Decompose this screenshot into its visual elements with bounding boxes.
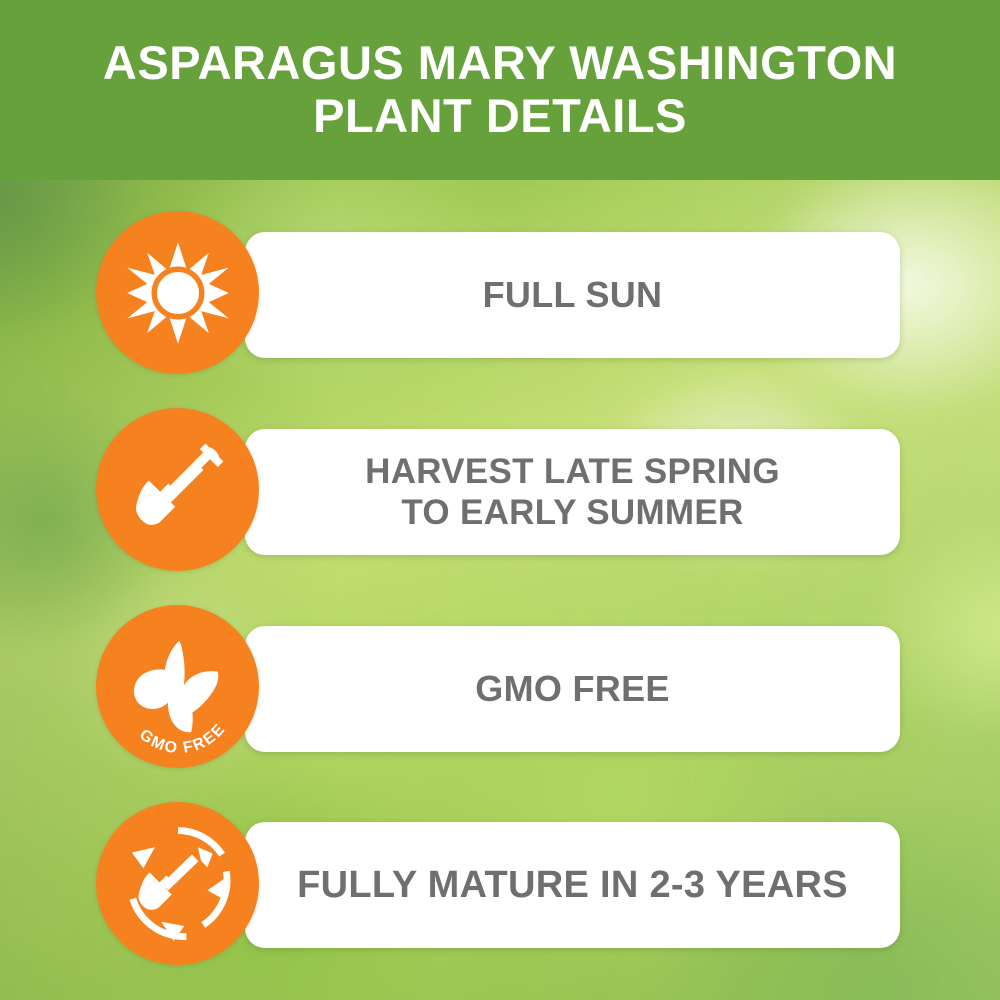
page-title-line-1: ASPARAGUS MARY WASHINGTON	[103, 37, 897, 90]
sun-icon	[124, 239, 232, 347]
icon-badge-full-sun	[96, 211, 259, 374]
icon-badge-gmo-free: GMO FREE	[96, 605, 259, 768]
icon-badge-maturity	[96, 802, 259, 965]
icon-badge-harvest	[96, 408, 259, 571]
header-banner: ASPARAGUS MARY WASHINGTON PLANT DETAILS	[0, 0, 1000, 180]
gmo-free-leaves-icon: GMO FREE	[112, 621, 244, 753]
shovel-in-cycle-icon	[115, 821, 241, 947]
detail-card-label: FULL SUN	[483, 274, 663, 316]
detail-card-label-line-2: TO EARLY SUMMER	[365, 492, 780, 533]
detail-card: HARVEST LATE SPRING TO EARLY SUMMER	[245, 429, 900, 555]
detail-card: FULLY MATURE IN 2-3 YEARS	[245, 822, 900, 948]
detail-card: FULL SUN	[245, 232, 900, 358]
page-title-line-2: PLANT DETAILS	[313, 90, 687, 143]
detail-card: GMO FREE	[245, 626, 900, 752]
detail-card-label: GMO FREE	[475, 668, 669, 710]
plant-details-infographic: ASPARAGUS MARY WASHINGTON PLANT DETAILS …	[0, 0, 1000, 1000]
detail-card-label: FULLY MATURE IN 2-3 YEARS	[297, 863, 848, 908]
detail-card-label-line-1: HARVEST LATE SPRING	[365, 451, 780, 492]
detail-card-label: HARVEST LATE SPRING TO EARLY SUMMER	[365, 451, 780, 534]
shovel-icon	[122, 434, 234, 546]
